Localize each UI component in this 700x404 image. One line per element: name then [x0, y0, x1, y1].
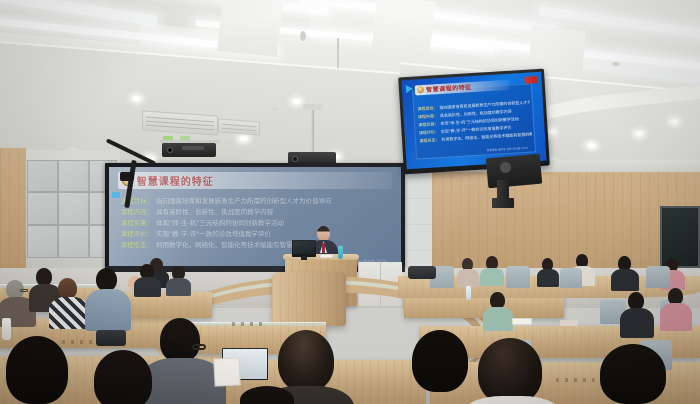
- projection-row-label: 课程实施：: [121, 217, 154, 227]
- water-bottle-desk-left: [2, 318, 11, 340]
- presenter-tie: [322, 243, 325, 253]
- attendee-glasses-icon: [192, 344, 206, 350]
- projection-row-value: 实现"教-学-评"一致的诊改增值教学评价: [156, 228, 271, 238]
- attendee-torso: [483, 307, 513, 331]
- attendee-head: [94, 350, 152, 404]
- downlight-1: [131, 95, 142, 102]
- attendee-head: [600, 344, 666, 404]
- tv-mount-knob: [500, 162, 511, 173]
- podium-monitor-stand: [301, 256, 307, 260]
- attendee-head: [412, 330, 468, 392]
- notebook-right-2: [560, 320, 578, 326]
- bag-on-desk-left: [96, 330, 126, 346]
- tv-row-label: 课程评价：: [419, 129, 439, 136]
- attendee-torso: [166, 278, 191, 296]
- attendee-head: [96, 268, 117, 291]
- downlight-9: [586, 142, 597, 149]
- attendee-torso: [537, 269, 559, 287]
- projection-row-label: 课程形态：: [121, 239, 154, 249]
- projector-pole-right: [311, 108, 314, 156]
- tv-row-label: 课程实施：: [418, 121, 438, 128]
- tv-slide-footer: 智慧课程 高阶性 创新 挑战度 2024: [487, 146, 528, 152]
- attendee-torso: [620, 308, 654, 338]
- ceiling-block-b: [370, 0, 436, 67]
- attendee-head: [6, 336, 68, 404]
- smoke-detector-1: [271, 107, 279, 111]
- acoustic-panel-l2: [58, 160, 89, 192]
- mic-boom-head: [120, 172, 134, 181]
- water-bottle-podium: [338, 246, 343, 259]
- tv-slide: 智慧课程的特征 课程目标： 指向国家培育和发展新质生产力所需的创新型人才为价值导…: [412, 83, 536, 160]
- attendee-torso: [660, 303, 692, 331]
- projection-row-value: 具有高阶性、创新性、挑战度的教学内容: [156, 206, 273, 216]
- attendee-torso: [134, 277, 161, 297]
- tv-mount-bracket-plate: [492, 198, 514, 208]
- downlight-2: [291, 98, 302, 105]
- acoustic-panel-l4: [27, 192, 58, 225]
- tv-row-label: 课程内容：: [418, 113, 438, 120]
- presenter-head: [317, 226, 330, 241]
- attendee-torso: [457, 269, 479, 287]
- notebook-right: [512, 318, 532, 325]
- attendee-head: [478, 338, 542, 404]
- projection-row: 课程实施： 体现"师-生-机"三元结构的协同创新教学活动: [121, 217, 393, 226]
- projector-indicator-left-2: [180, 136, 190, 140]
- attendee-head: [58, 278, 77, 299]
- projector-blue-indicator: [112, 192, 120, 198]
- tv-row-label: 课程形态：: [419, 137, 439, 144]
- wall-blackboard-right: [660, 206, 700, 268]
- attendee-torso: [85, 289, 131, 331]
- projection-row-value: 体现"师-生-机"三元结构的协同创新教学活动: [156, 217, 284, 227]
- projector-indicator-left: [163, 136, 173, 140]
- emblem-icon: [417, 86, 424, 93]
- bag-on-desk-right: [408, 266, 436, 279]
- acoustic-panel-l5: [58, 192, 89, 225]
- attendee-glasses-icon: [20, 289, 28, 292]
- projection-slide-body: 课程目标： 指向国家培育和发展新质生产力所需的创新型人才为价值导向 课程内容： …: [121, 195, 393, 250]
- podium-papers: [320, 254, 333, 258]
- attendee-torso: [480, 268, 504, 286]
- projector-lens-right: [292, 156, 298, 162]
- laptop-papers: [213, 357, 240, 386]
- podium-monitor-screen: [293, 241, 315, 254]
- smoke-detector-3: [612, 62, 620, 66]
- desk-vent-holes-mid: [232, 322, 266, 326]
- tv-slide-body: 课程目标： 指向国家培育和发展新质生产力所需的创新型人才为价值导向 课程内容： …: [417, 99, 532, 146]
- downlight-10: [634, 130, 645, 137]
- tv-slide-title: 智慧课程的特征: [426, 82, 472, 94]
- projector-left: [162, 143, 216, 157]
- projection-row-label: 课程评价：: [121, 228, 154, 238]
- water-bottle-right: [466, 286, 471, 300]
- tv-row-label: 课程目标：: [417, 105, 437, 112]
- downlight-4: [238, 135, 249, 142]
- attendee-torso: [611, 269, 639, 291]
- acoustic-panel-l1: [27, 160, 58, 192]
- acoustic-panel-l7: [27, 225, 58, 258]
- acoustic-panel-l8: [58, 225, 89, 258]
- lecture-hall-photo: 智慧课程的特征 课程目标： 指向国家培育和发展新质生产力所需的创新型人才为价值导…: [0, 0, 700, 404]
- projection-row: 课程形态： 利用数字化、网络化、智能化等技术赋能有智慧的教学功能: [121, 239, 393, 248]
- attendee-head: [278, 330, 334, 392]
- chair-r2: [506, 266, 530, 288]
- chair-r3: [560, 268, 582, 288]
- projection-row: 课程内容： 具有高阶性、创新性、挑战度的教学内容: [121, 206, 393, 215]
- tv-slide-titlebar: 智慧课程的特征: [415, 79, 510, 95]
- podium-monitor[interactable]: [292, 240, 316, 257]
- desk-vent-holes-left: [62, 340, 100, 344]
- projector-lens-left: [167, 147, 173, 153]
- attendee-torso: [49, 297, 89, 329]
- chair-r4: [646, 266, 670, 288]
- desk-vent-holes-right: [556, 378, 596, 382]
- projector-ceiling-cup-right: [303, 104, 322, 110]
- projection-row: 课程评价： 实现"教-学-评"一致的诊改增值教学评价: [121, 228, 393, 237]
- ceiling-pole-far-right: [337, 38, 339, 68]
- podium-cylinder: [272, 272, 346, 326]
- projection-slide-titlebar: 智慧课程的特征: [118, 172, 392, 189]
- projection-slide-title: 智慧课程的特征: [137, 173, 214, 188]
- downlight-11: [669, 118, 680, 125]
- attendee-head: [160, 318, 200, 362]
- ceiling-block-a: [217, 0, 283, 57]
- ceiling-ac-vent-2: [218, 119, 260, 136]
- tv-wall-mount: [486, 154, 542, 189]
- projection-row: 课程目标： 指向国家培育和发展新质生产力所需的创新型人才为价值导向: [121, 195, 393, 204]
- smoke-detector-2: [300, 31, 306, 41]
- projection-row-value: 指向国家培育和发展新质生产力所需的创新型人才为价值导向: [156, 195, 332, 205]
